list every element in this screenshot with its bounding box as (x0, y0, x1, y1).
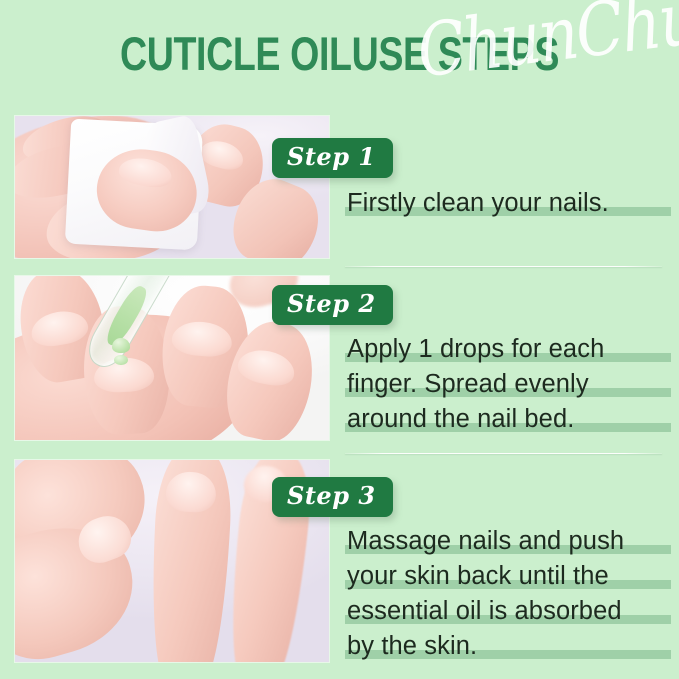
step-1-copy: Firstly clean your nails. (347, 186, 665, 221)
step-3-line-3: essential oil is absorbed (347, 594, 665, 629)
oil-droplet-shape (112, 338, 130, 353)
section-divider-1 (345, 266, 662, 267)
step-3-copy: Massage nails and push your skin back un… (347, 524, 665, 664)
step-2-line-3: around the nail bed. (347, 402, 665, 437)
step-2-badge-label: Step 2 (287, 292, 376, 316)
step-3-line-1: Massage nails and push (347, 524, 665, 559)
step-1-badge: Step 1 (272, 138, 393, 178)
step-2-line-1: Apply 1 drops for each (347, 332, 665, 367)
header: CUTICLE OILUSE STEPS ChunChu (0, 26, 679, 92)
step-block-1: Step 1 Firstly clean your nails. (0, 112, 679, 260)
cuticle-oil-steps-infographic: CUTICLE OILUSE STEPS ChunChu Step 1 (0, 0, 679, 679)
step-3-badge: Step 3 (272, 477, 393, 517)
step-block-3: Step 3 Massage nails and push your skin … (0, 456, 679, 666)
section-divider-2 (345, 453, 662, 454)
page-title: CUTICLE OILUSE STEPS (68, 26, 611, 82)
step-2-copy: Apply 1 drops for each finger. Spread ev… (347, 332, 665, 437)
step-1-badge-label: Step 1 (287, 145, 376, 169)
step-block-2: Step 2 Apply 1 drops for each finger. Sp… (0, 272, 679, 444)
step-2-line-2: finger. Spread evenly (347, 367, 665, 402)
step-1-line-1: Firstly clean your nails. (347, 186, 665, 221)
step-2-badge: Step 2 (272, 285, 393, 325)
step-3-line-2: your skin back until the (347, 559, 665, 594)
step-3-badge-label: Step 3 (287, 484, 376, 508)
step-3-line-4: by the skin. (347, 629, 665, 664)
step-1-photo (14, 115, 330, 259)
